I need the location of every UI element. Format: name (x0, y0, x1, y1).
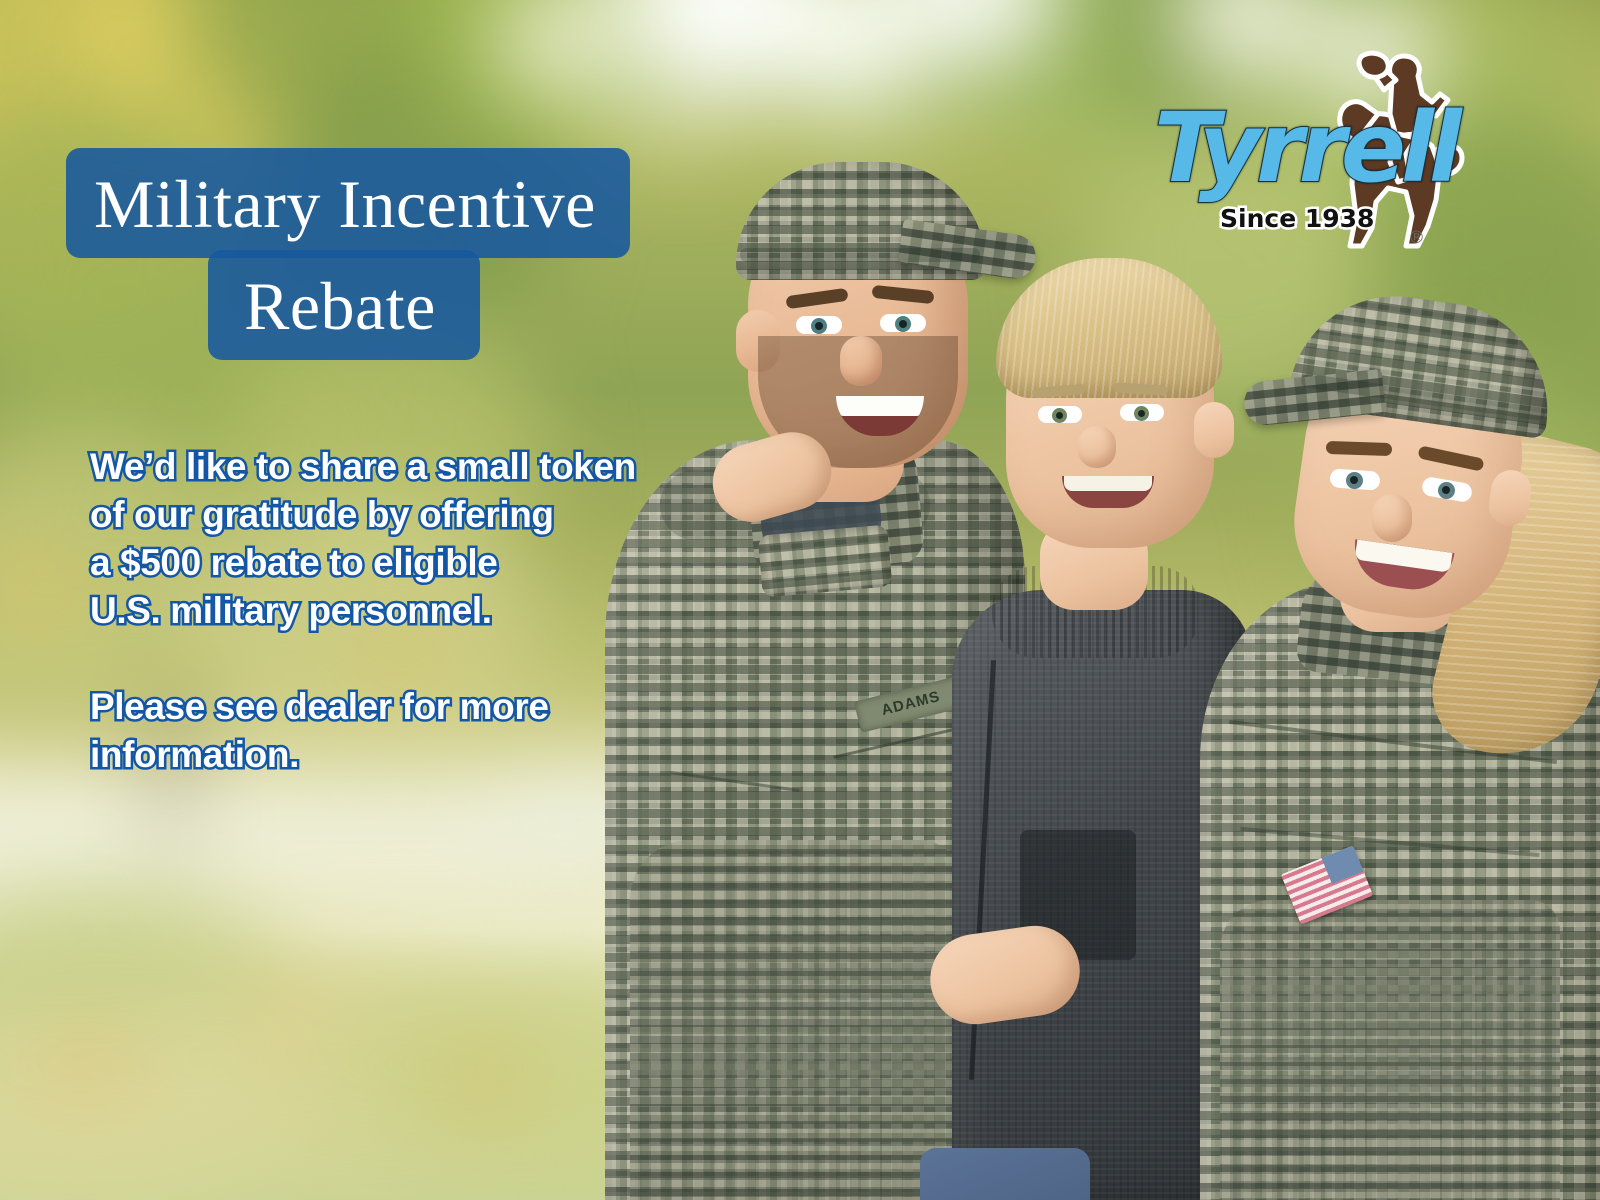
body-line-3: a $500 rebate to eligible (90, 539, 690, 587)
paragraph-spacer (90, 635, 690, 683)
logo-wordmark: Tyrrell (1154, 100, 1457, 196)
logo-tagline: Since 1938 (1220, 204, 1374, 233)
body-line-5: Please see dealer for more (90, 683, 690, 731)
headline-block: Military Incentive Rebate (66, 148, 766, 360)
body-line-1: We’d like to share a small token (90, 443, 690, 491)
body-line-6: information. (90, 731, 690, 779)
body-line-4: U.S. military personnel. (90, 587, 690, 635)
logo-wordmark-text: Tyrrell (1154, 92, 1457, 204)
registered-trademark-icon: ® (1408, 228, 1425, 248)
body-line-2: of our gratitude by offering (90, 491, 690, 539)
tyrrell-logo[interactable]: Tyrrell Since 1938 ® (1154, 52, 1514, 262)
jeans (920, 1148, 1090, 1200)
headline-line-1: Military Incentive (66, 148, 630, 258)
promotional-banner: ADAMS (0, 0, 1600, 1200)
headline-line-2: Rebate (208, 250, 480, 360)
body-copy: We’d like to share a small token of our … (90, 443, 690, 780)
